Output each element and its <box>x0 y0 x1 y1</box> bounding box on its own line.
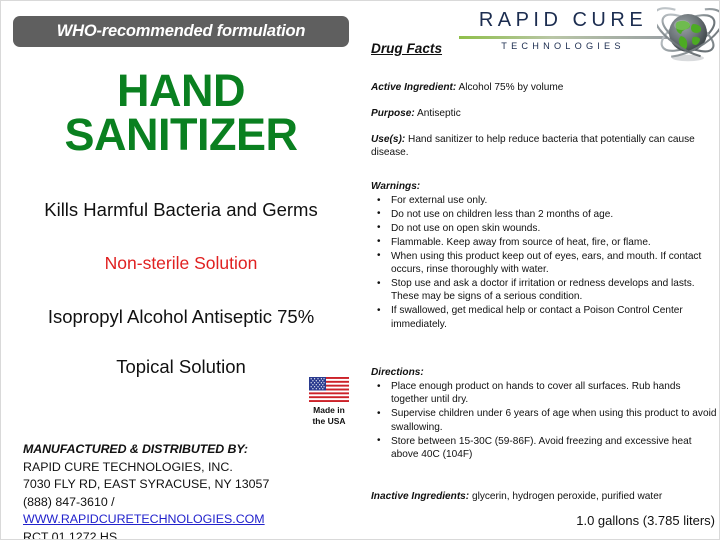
made-in-usa-line1: Made in <box>303 405 355 416</box>
product-label: WHO-recommended formulation HAND SANITIZ… <box>0 0 720 540</box>
list-item: When using this product keep out of eyes… <box>371 250 719 277</box>
purpose-row: Purpose: Antiseptic <box>371 107 719 120</box>
who-banner-label: WHO-recommended formulation <box>57 22 306 41</box>
active-ingredient-value: Alcohol 75% by volume <box>456 82 563 93</box>
warnings-list: For external use only. Do not use on chi… <box>371 194 719 331</box>
active-ingredient-label: Active Ingredient: <box>371 82 456 93</box>
made-in-usa-badge: Made in the USA <box>303 377 355 426</box>
warnings-section: Warnings: For external use only. Do not … <box>371 181 719 332</box>
manufacturer-block: MANUFACTURED & DISTRIBUTED BY: RAPID CUR… <box>23 441 353 540</box>
list-item: Flammable. Keep away from source of heat… <box>371 236 719 249</box>
directions-label: Directions: <box>371 367 719 378</box>
list-item: Place enough product on hands to cover a… <box>371 380 719 407</box>
made-in-usa-label: Made in the USA <box>303 405 355 426</box>
sterility-statement: Non-sterile Solution <box>1 253 361 274</box>
manufacturer-contact-line: (888) 847-3610 / WWW.RAPIDCURETECHNOLOGI… <box>23 494 353 529</box>
page-title: HAND SANITIZER <box>1 69 361 157</box>
list-item: For external use only. <box>371 194 719 207</box>
directions-list: Place enough product on hands to cover a… <box>371 380 719 462</box>
purpose-label: Purpose: <box>371 108 415 119</box>
manufacturer-lot-code: RCT 01 1272 HS <box>23 529 353 540</box>
inactive-ingredients-value: glycerin, hydrogen peroxide, purified wa… <box>469 491 662 502</box>
manufacturer-phone: (888) 847-3610 / <box>23 495 115 509</box>
tagline: Kills Harmful Bacteria and Germs <box>1 199 361 221</box>
manufacturer-company: RAPID CURE TECHNOLOGIES, INC. <box>23 459 353 477</box>
who-recommended-banner: WHO-recommended formulation <box>13 16 349 47</box>
uses-label: Use(s): <box>371 134 405 145</box>
directions-section: Directions: Place enough product on hand… <box>371 367 719 462</box>
manufacturer-heading: MANUFACTURED & DISTRIBUTED BY: <box>23 441 353 459</box>
logo-divider-rule <box>459 36 667 39</box>
manufacturer-address: 7030 FLY RD, EAST SYRACUSE, NY 13057 <box>23 476 353 494</box>
net-volume-statement: 1.0 gallons (3.785 liters) <box>371 513 715 528</box>
list-item: Supervise children under 6 years of age … <box>371 407 719 434</box>
list-item: Store between 15-30C (59-86F). Avoid fre… <box>371 435 719 462</box>
drug-facts-heading: Drug Facts <box>371 41 442 56</box>
list-item: Do not use on children less than 2 month… <box>371 208 719 221</box>
active-ingredient-row: Active Ingredient: Alcohol 75% by volume <box>371 81 719 94</box>
logo-subtext: TECHNOLOGIES <box>457 41 669 51</box>
inactive-ingredients-row: Inactive Ingredients: glycerin, hydrogen… <box>371 490 719 503</box>
inactive-ingredients-label: Inactive Ingredients: <box>371 491 469 502</box>
list-item: Do not use on open skin wounds. <box>371 222 719 235</box>
warnings-label: Warnings: <box>371 181 719 192</box>
list-item: If swallowed, get medical help or contac… <box>371 304 719 331</box>
product-title-line2: SANITIZER <box>1 113 361 157</box>
right-panel: RAPID CURE TECHNOLOGIES <box>369 1 720 540</box>
strength-statement: Isopropyl Alcohol Antiseptic 75% <box>1 306 361 328</box>
us-flag-icon <box>309 377 349 402</box>
manufacturer-website-link[interactable]: WWW.RAPIDCURETECHNOLOGIES.COM <box>23 512 265 526</box>
uses-row: Use(s): Hand sanitizer to help reduce ba… <box>371 133 715 160</box>
purpose-value: Antiseptic <box>415 108 461 119</box>
globe-icon <box>657 5 719 63</box>
rapid-cure-logo: RAPID CURE TECHNOLOGIES <box>457 5 720 67</box>
uses-value: Hand sanitizer to help reduce bacteria t… <box>371 134 695 158</box>
left-panel: WHO-recommended formulation HAND SANITIZ… <box>1 1 361 540</box>
logo-wordmark: RAPID CURE <box>457 9 669 32</box>
dosage-form-statement: Topical Solution <box>1 356 361 378</box>
list-item: Stop use and ask a doctor if irritation … <box>371 277 719 304</box>
made-in-usa-line2: the USA <box>303 416 355 427</box>
